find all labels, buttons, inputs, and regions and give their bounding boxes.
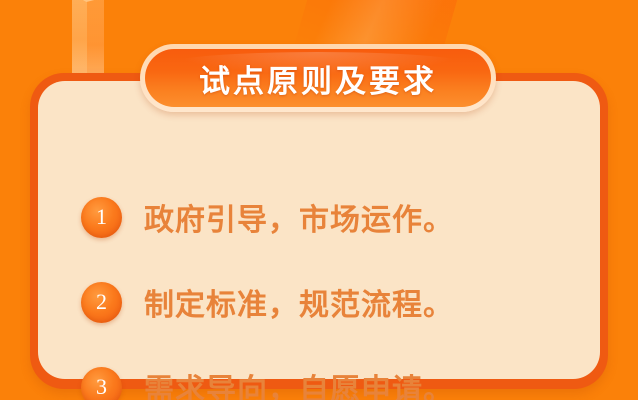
list-item: 2 制定标准，规范流程。 xyxy=(81,271,570,333)
list-item-number-badge: 3 xyxy=(81,367,122,400)
content-card: 1 政府引导，市场运作。 2 制定标准，规范流程。 3 需求导向，自愿申请。 xyxy=(30,73,608,389)
pillar-decoration-icon xyxy=(72,0,104,78)
list-item-number-badge: 1 xyxy=(81,197,122,238)
list-item-text: 需求导向，自愿申请。 xyxy=(144,365,454,400)
title-banner-fill: 试点原则及要求 xyxy=(145,49,491,107)
list-item-number: 3 xyxy=(96,376,107,398)
principles-list: 1 政府引导，市场运作。 2 制定标准，规范流程。 3 需求导向，自愿申请。 xyxy=(81,186,570,400)
list-item: 1 政府引导，市场运作。 xyxy=(81,186,570,248)
list-item-text: 政府引导，市场运作。 xyxy=(144,195,454,239)
pillar-right-face xyxy=(87,0,104,78)
list-item-text: 制定标准，规范流程。 xyxy=(144,280,454,324)
list-item: 3 需求导向，自愿申请。 xyxy=(81,356,570,400)
list-item-number: 2 xyxy=(96,291,107,313)
pillar-left-face xyxy=(72,0,87,78)
list-item-number: 1 xyxy=(96,206,107,228)
poster-root: 1 政府引导，市场运作。 2 制定标准，规范流程。 3 需求导向，自愿申请。 xyxy=(0,0,638,400)
content-card-inner: 1 政府引导，市场运作。 2 制定标准，规范流程。 3 需求导向，自愿申请。 xyxy=(38,81,600,379)
list-item-number-badge: 2 xyxy=(81,282,122,323)
title-banner: 试点原则及要求 xyxy=(140,44,496,112)
pillar-top-face xyxy=(72,0,104,2)
page-title: 试点原则及要求 xyxy=(199,56,437,101)
